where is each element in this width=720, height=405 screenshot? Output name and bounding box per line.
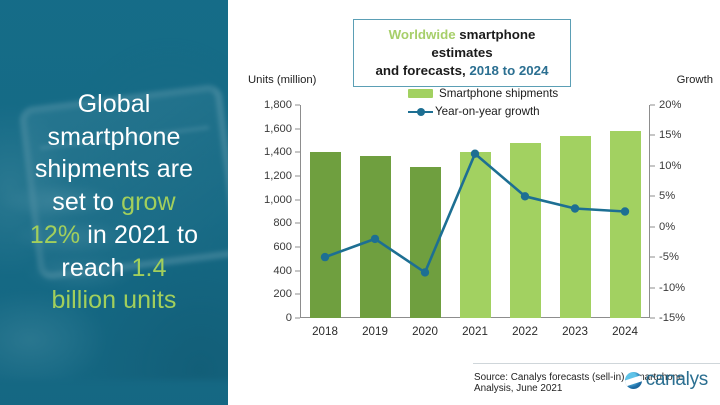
headline-line-4-text: set to: [52, 188, 121, 216]
right-axis-tick-mark: [650, 287, 655, 288]
legend-label-bars: Smartphone shipments: [439, 87, 558, 100]
growth-point-2021: [471, 150, 479, 158]
chart-title-years: 2018 to 2024: [469, 63, 548, 78]
chart-panel: Worldwide smartphone estimates and forec…: [228, 0, 720, 405]
x-axis-label-2023: 2023: [562, 325, 588, 338]
headline-line-5: 12% in 2021 to: [30, 219, 198, 252]
footer-divider: [473, 363, 720, 364]
canalys-logo: canalys: [625, 369, 708, 391]
headline-text: Global smartphone shipments are set to g…: [0, 0, 228, 405]
headline-accent-percent: 12%: [30, 221, 80, 249]
right-axis-tick-mark: [650, 135, 655, 136]
headline-line-4: set to grow: [52, 186, 175, 219]
headline-line-6-text: reach: [61, 254, 131, 282]
x-axis-label-2022: 2022: [512, 325, 538, 338]
headline-line-2: smartphone: [47, 121, 180, 154]
growth-line-series: [300, 105, 650, 318]
chart-title-forecasts: and forecasts,: [376, 63, 470, 78]
x-axis-label-2018: 2018: [312, 325, 338, 338]
growth-point-2020: [421, 268, 429, 276]
right-axis-tick-mark: [650, 257, 655, 258]
x-axis-label-2020: 2020: [412, 325, 438, 338]
growth-point-2024: [621, 207, 629, 215]
left-axis-title: Units (million): [248, 74, 316, 86]
right-axis-tick-mark: [650, 105, 655, 106]
right-axis-tick-mark: [650, 165, 655, 166]
logo-wordmark: canalys: [646, 369, 708, 391]
growth-point-2019: [371, 235, 379, 243]
headline-line-7: billion units: [52, 284, 177, 317]
chart-title: Worldwide smartphone estimates and forec…: [353, 19, 571, 87]
growth-point-2018: [321, 253, 329, 261]
headline-accent-grow: grow: [121, 188, 176, 216]
headline-line-1: Global: [78, 88, 151, 121]
right-axis-title: Growth: [677, 74, 713, 86]
growth-point-2022: [521, 192, 529, 200]
headline-line-5-text: in 2021 to: [80, 221, 198, 249]
x-axis-label-2021: 2021: [462, 325, 488, 338]
right-axis-tick-mark: [650, 318, 655, 319]
right-axis-tick-mark: [650, 226, 655, 227]
right-axis-tick-mark: [650, 196, 655, 197]
x-axis-label-2024: 2024: [612, 325, 638, 338]
chart-title-worldwide: Worldwide: [389, 27, 456, 42]
left-hero-panel: Global smartphone shipments are set to g…: [0, 0, 228, 405]
right-axis-tick-label: -10%: [650, 282, 685, 294]
headline-line-3: shipments are: [35, 153, 193, 186]
plot-area: 02004006008001,0001,2001,4001,6001,800 -…: [300, 105, 650, 318]
right-axis-tick-label: -15%: [650, 312, 685, 324]
globe-icon: [625, 372, 642, 389]
growth-point-2023: [571, 204, 579, 212]
headline-accent-value: 1.4: [132, 254, 167, 282]
legend-item-bars: Smartphone shipments: [408, 86, 558, 101]
slide-root: Global smartphone shipments are set to g…: [0, 0, 720, 405]
x-axis-label-2019: 2019: [362, 325, 388, 338]
headline-line-6: reach 1.4: [61, 252, 166, 285]
bar-swatch-icon: [408, 89, 433, 98]
